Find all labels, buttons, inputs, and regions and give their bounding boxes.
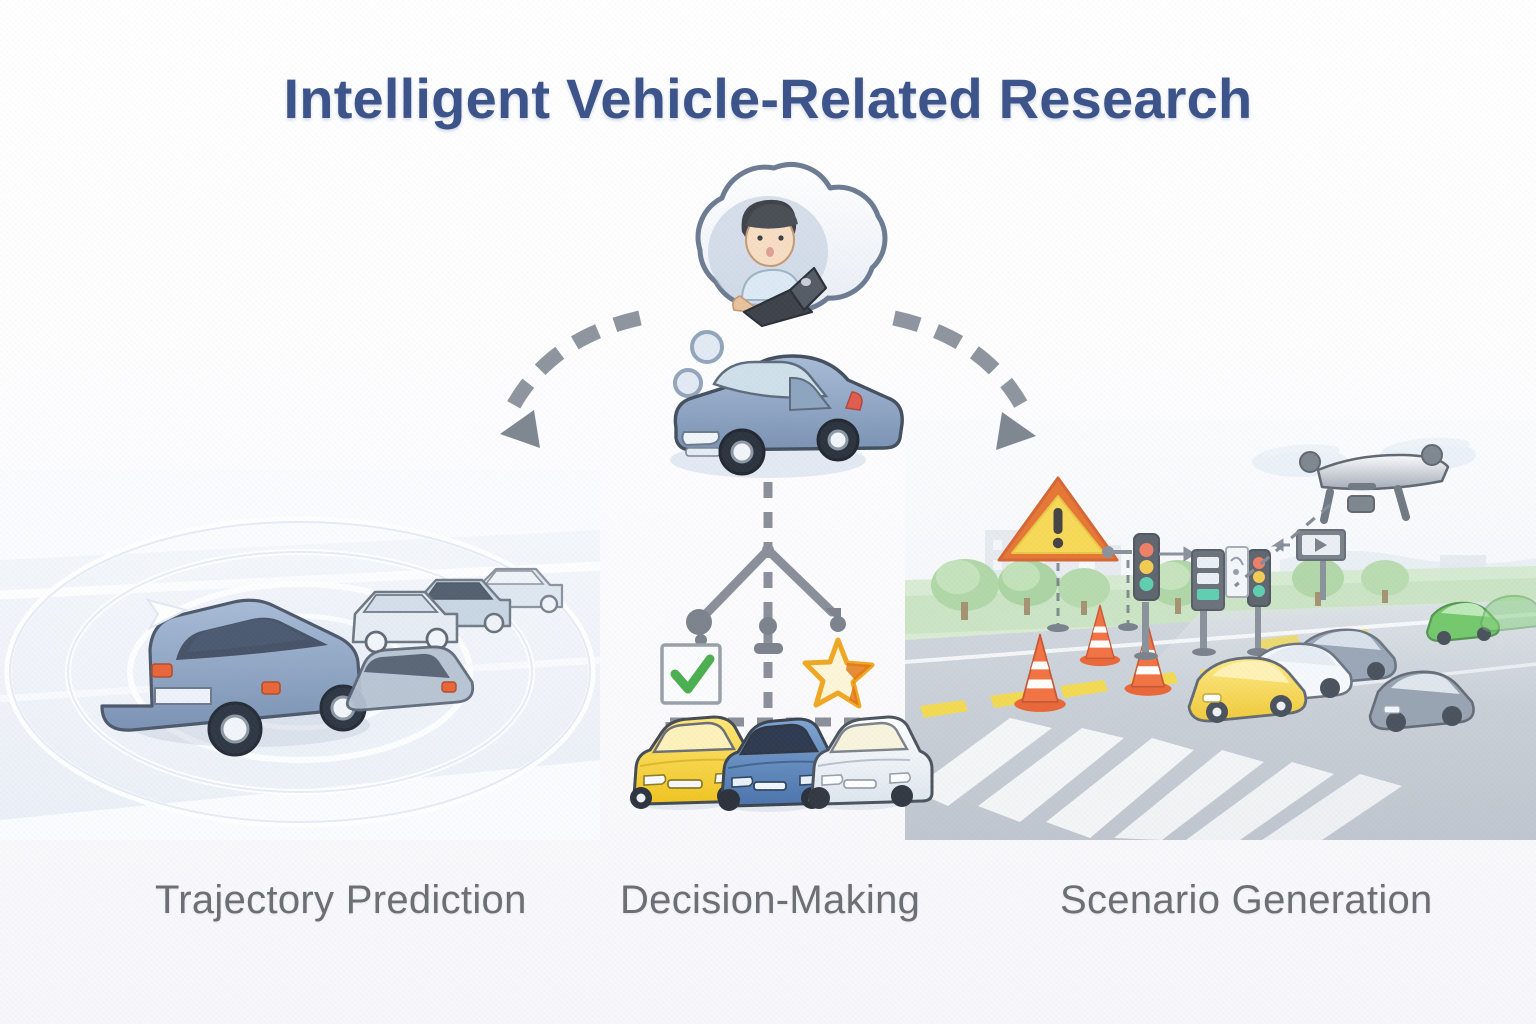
caption-decision-making: Decision-Making	[620, 878, 920, 923]
trajectory-scene	[0, 470, 600, 840]
scenario-generation-scene	[905, 420, 1536, 840]
dashed-arrow-left-icon	[500, 318, 640, 448]
star-icon	[805, 640, 872, 706]
page-title: Intelligent Vehicle-Related Research	[0, 66, 1536, 131]
thought-dot-icon	[675, 370, 701, 396]
caption-trajectory-prediction: Trajectory Prediction	[155, 878, 527, 923]
caption-scenario-generation: Scenario Generation	[1060, 878, 1433, 923]
check-mark-icon	[662, 645, 720, 703]
figure-canvas: Intelligent Vehicle-Related Research Tra…	[0, 0, 1536, 1024]
ego-sedan-icon	[670, 356, 902, 478]
thought-dot-icon	[692, 332, 722, 362]
decision-tree-icon	[662, 482, 872, 742]
trajectory-prediction-panel	[0, 0, 1536, 1024]
